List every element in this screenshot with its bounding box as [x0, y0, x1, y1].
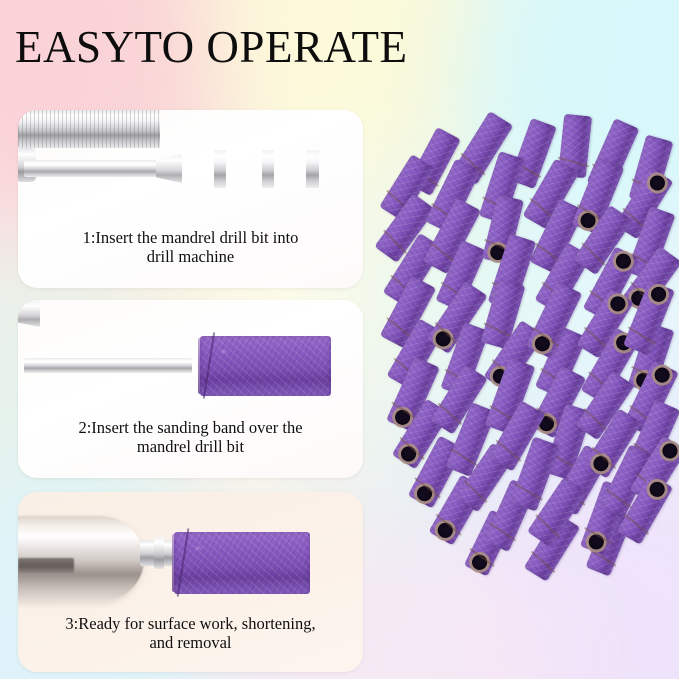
product-photo-sanding-bands-pile — [372, 130, 679, 582]
mandrel-taper-collar — [156, 154, 182, 183]
sanding-band-bore-hole — [649, 285, 669, 305]
sanding-band-bore-hole — [532, 334, 552, 354]
sanding-band-bore-hole — [414, 483, 434, 503]
handpiece-slot — [18, 558, 74, 573]
mandrel-with-band-graphic — [18, 300, 363, 412]
sanding-band-bore-hole — [647, 479, 667, 499]
sanding-band-bore-hole — [607, 293, 628, 314]
sanding-band-bore-hole — [613, 251, 633, 271]
sanding-band-bore-hole — [590, 453, 611, 474]
mandrel-ring-1 — [214, 150, 226, 188]
step-card-3: 3:Ready for surface work, shortening, an… — [18, 492, 363, 672]
drill-machine-handpiece — [18, 516, 144, 602]
step-card-2: 2:Insert the sanding band over the mandr… — [18, 300, 363, 478]
drill-chuck-ring — [154, 537, 164, 569]
purple-sanding-band — [174, 532, 310, 594]
step-3-illustration — [18, 492, 363, 612]
sanding-band-bore-hole — [398, 444, 419, 465]
mandrel-knurled-body — [18, 110, 160, 148]
sanding-band-bore-hole — [652, 365, 672, 385]
mandrel-shaft — [24, 358, 192, 373]
step-1-caption-line-1: 1:Insert the mandrel drill bit into — [28, 228, 353, 247]
step-1-caption: 1:Insert the mandrel drill bit into dril… — [28, 228, 353, 266]
sanding-band-bore-hole — [660, 441, 679, 462]
step-card-1: 1:Insert the mandrel drill bit into dril… — [18, 110, 363, 288]
mandrel-shaft — [24, 160, 164, 177]
step-2-caption: 2:Insert the sanding band over the mandr… — [28, 418, 353, 456]
sanding-band-bore-hole — [647, 172, 668, 193]
poster-title: EASYTO OPERATE — [15, 22, 407, 72]
step-2-caption-line-1: 2:Insert the sanding band over the — [28, 418, 353, 437]
step-3-caption-line-1: 3:Ready for surface work, shortening, — [28, 614, 353, 633]
step-3-caption: 3:Ready for surface work, shortening, an… — [28, 614, 353, 652]
sanding-band-bore-hole — [470, 552, 490, 572]
product-infographic-poster: EASYTO OPERATE 1:Insert the mandrel dril… — [0, 0, 679, 679]
mandrel-taper-collar — [18, 300, 40, 327]
step-2-caption-line-2: mandrel drill bit — [28, 437, 353, 456]
mandrel-drill-bit-graphic — [18, 110, 363, 222]
step-3-caption-line-2: and removal — [28, 633, 353, 652]
sanding-band-bore-hole — [435, 520, 455, 540]
purple-sanding-band — [200, 336, 331, 396]
step-1-illustration — [18, 110, 363, 222]
step-2-illustration — [18, 300, 363, 412]
sanding-band-bore-hole — [587, 532, 606, 551]
step-1-caption-line-2: drill machine — [28, 247, 353, 266]
mandrel-ring-3 — [306, 150, 319, 188]
mandrel-ring-2 — [262, 150, 274, 188]
